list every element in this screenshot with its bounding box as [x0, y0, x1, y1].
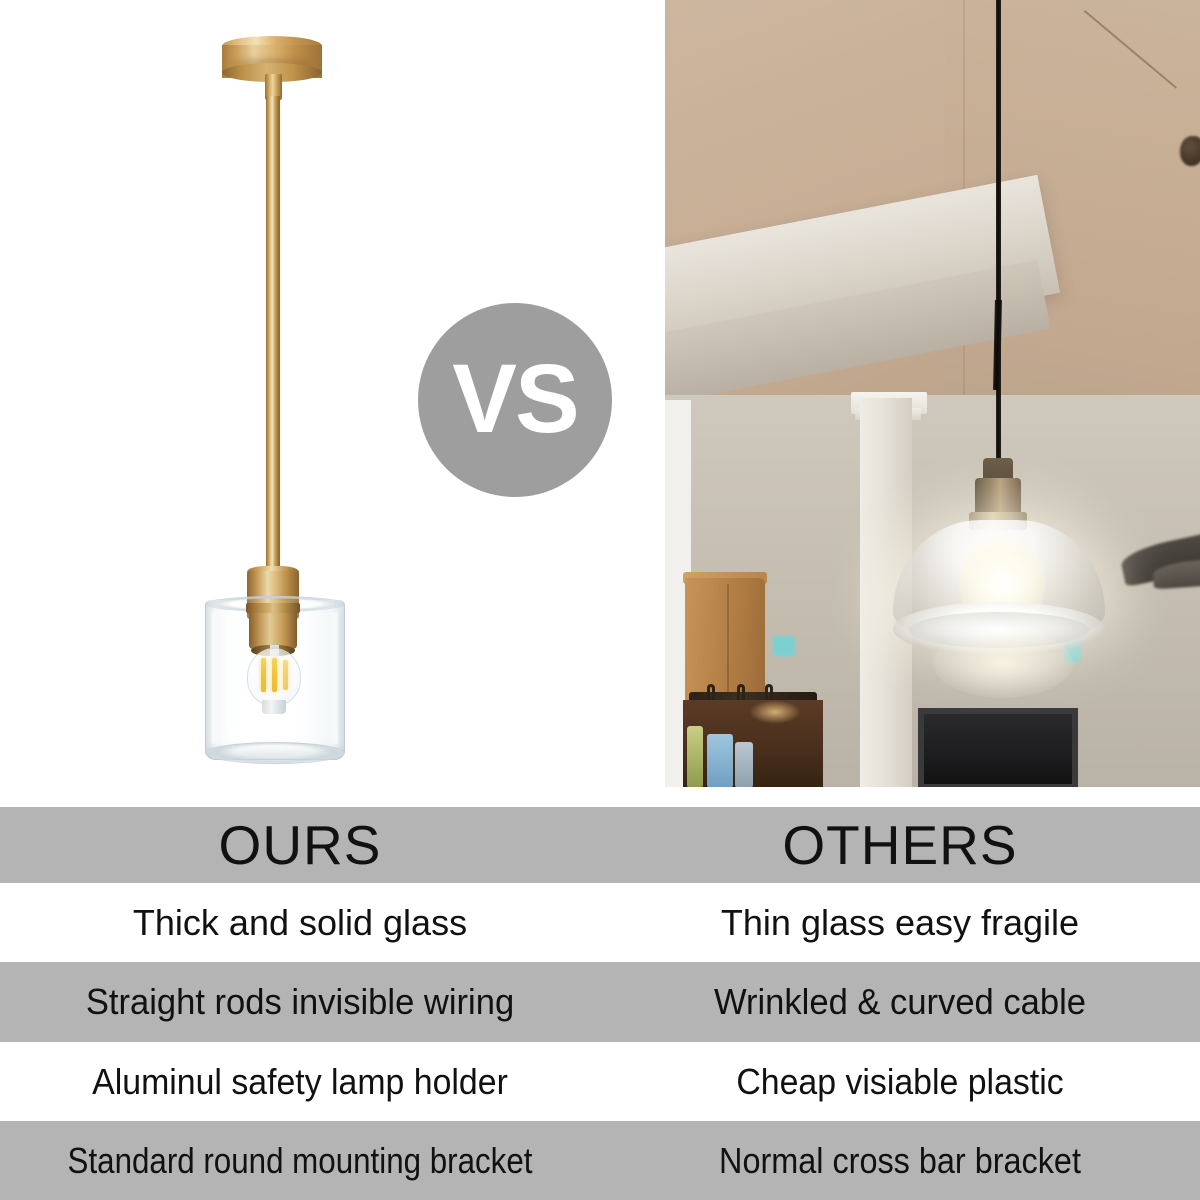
- lifestyle-photo-others: [665, 0, 1200, 787]
- counter-bottle-3: [735, 742, 753, 787]
- bulb-neck: [262, 700, 286, 714]
- pendant-downlight-glow: [933, 628, 1073, 698]
- rail-hook-3: [765, 684, 773, 700]
- vs-label: VS: [452, 350, 577, 447]
- table-row: Standard round mounting bracket Normal c…: [0, 1121, 1200, 1200]
- cell-ours-1: Thick and solid glass: [0, 883, 600, 962]
- rail-hook-1: [707, 684, 715, 700]
- counter-bottle-1: [687, 726, 703, 787]
- black-hanging-cord: [996, 0, 1001, 470]
- cell-ours-3: Aluminul safety lamp holder: [18, 1042, 582, 1121]
- counter-bottle-2: [707, 734, 733, 787]
- rail-hook-2: [737, 684, 745, 700]
- table-row: Thick and solid glass Thin glass easy fr…: [0, 883, 1200, 962]
- brass-down-rod: [266, 96, 280, 568]
- column-header-ours: OURS: [0, 807, 600, 883]
- table-header-row: OURS OTHERS: [0, 807, 1200, 883]
- comparison-infographic: VS: [0, 0, 1200, 1200]
- lamp-holder-lower: [249, 613, 297, 649]
- lamp-holder-ring: [246, 603, 300, 613]
- glass-highlight-left: [212, 612, 219, 744]
- cell-others-4: Normal cross bar bracket: [630, 1121, 1170, 1200]
- dark-tv-panel: [918, 708, 1078, 787]
- bulb-filament-2: [272, 658, 277, 692]
- vs-badge: VS: [418, 303, 612, 497]
- ceiling-knob: [1180, 136, 1200, 166]
- table-row: Aluminul safety lamp holder Cheap visiab…: [0, 1042, 1200, 1121]
- bulb-filament-3: [283, 660, 288, 690]
- glass-highlight-right: [330, 612, 338, 744]
- comparison-table: OURS OTHERS Thick and solid glass Thin g…: [0, 807, 1200, 1200]
- cell-ours-2: Straight rods invisible wiring: [12, 962, 588, 1042]
- glass-shade-bottom-rim: [205, 742, 345, 764]
- bulb-filament-1: [261, 658, 266, 692]
- column-header-others: OTHERS: [600, 807, 1200, 883]
- counter-glow: [749, 700, 801, 724]
- cell-others-2: Wrinkled & curved cable: [612, 962, 1188, 1042]
- hero-section: VS: [0, 0, 1200, 807]
- wall-teal-marker-1: [773, 636, 795, 656]
- cell-ours-4: Standard round mounting bracket: [39, 1121, 561, 1200]
- cell-others-1: Thin glass easy fragile: [600, 883, 1200, 962]
- cell-others-3: Cheap visiable plastic: [618, 1042, 1182, 1121]
- table-row: Straight rods invisible wiring Wrinkled …: [0, 962, 1200, 1042]
